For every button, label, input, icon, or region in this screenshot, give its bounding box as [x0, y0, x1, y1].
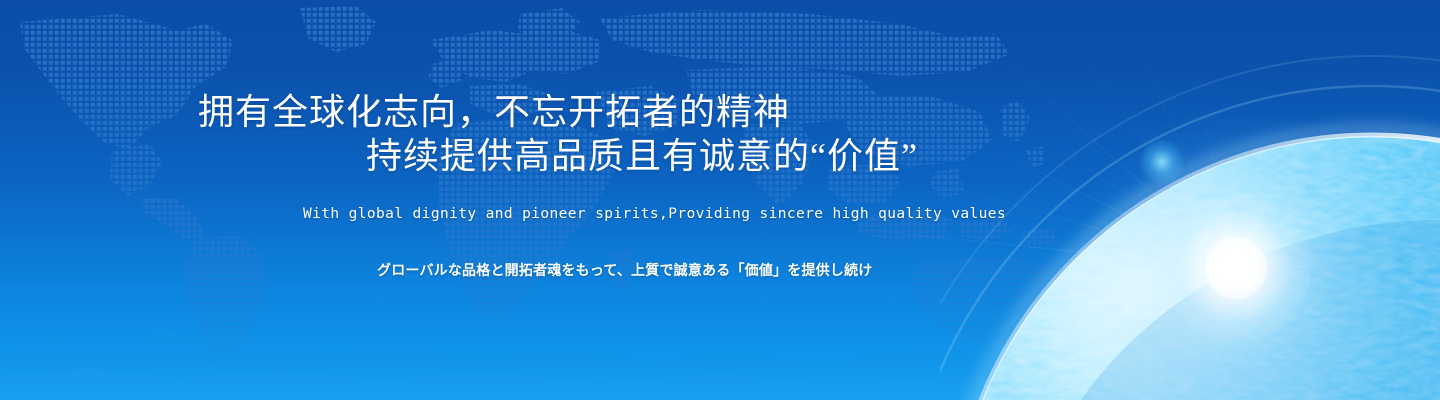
hero-banner: 拥有全球化志向，不忘开拓者的精神 持续提供高品质且有诚意的“价值” With g…	[0, 0, 1440, 400]
subtitle-english: With global dignity and pioneer spirits,…	[303, 206, 1006, 222]
headline-line-1: 拥有全球化志向，不忘开拓者的精神	[198, 94, 790, 130]
headline-line-2: 持续提供高品质且有诚意的“价值”	[366, 138, 918, 174]
banner-copy: 拥有全球化志向，不忘开拓者的精神 持续提供高品质且有诚意的“价值” With g…	[0, 0, 1440, 400]
subtitle-japanese: グローバルな品格と開拓者魂をもって、上質で誠意ある「価値」を提供し続け	[377, 260, 872, 280]
